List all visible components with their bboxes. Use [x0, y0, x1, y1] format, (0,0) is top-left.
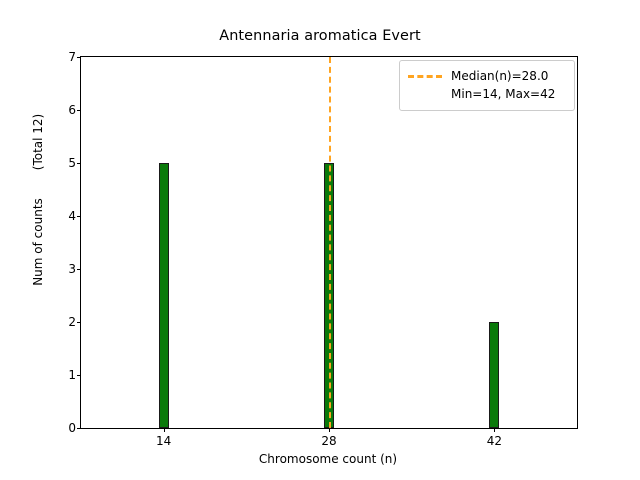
y-tick-mark [77, 163, 81, 164]
x-axis-label: Chromosome count (n) [80, 452, 576, 466]
y-tick-mark [77, 216, 81, 217]
x-tick-label: 28 [321, 434, 336, 448]
plot-area: 01234567 142842 [80, 56, 578, 429]
x-tick-mark [494, 428, 495, 432]
y-tick-label: 5 [68, 156, 76, 170]
median-line [329, 57, 331, 428]
y-tick-label: 1 [68, 368, 76, 382]
y-tick-label: 4 [68, 209, 76, 223]
x-tick-label: 42 [487, 434, 502, 448]
y-tick-mark [77, 322, 81, 323]
y-tick-label: 7 [68, 50, 76, 64]
chart-legend: Median(n)=28.0 Min=14, Max=42 [399, 60, 575, 111]
legend-entry-minmax: Min=14, Max=42 [408, 85, 566, 103]
y-axis-label: Num of counts [31, 198, 45, 286]
chart-figure: Antennaria aromatica Evert Num of counts… [0, 0, 640, 480]
chart-title: Antennaria aromatica Evert [0, 28, 640, 44]
y-tick-label: 2 [68, 315, 76, 329]
y-tick-mark [77, 428, 81, 429]
y-tick-mark [77, 375, 81, 376]
bar [489, 322, 499, 428]
y-tick-mark [77, 110, 81, 111]
legend-entry-median: Median(n)=28.0 [408, 67, 566, 85]
x-tick-label: 14 [156, 434, 171, 448]
legend-label-median: Median(n)=28.0 [451, 69, 548, 83]
dashed-line-icon [408, 75, 442, 78]
y-tick-mark [77, 269, 81, 270]
legend-label-minmax: Min=14, Max=42 [451, 87, 555, 101]
y-axis-total-label: (Total 12) [31, 113, 45, 169]
bar [159, 163, 169, 428]
plot-inner [81, 57, 577, 428]
x-tick-mark [164, 428, 165, 432]
y-tick-label: 0 [68, 421, 76, 435]
y-tick-mark [77, 57, 81, 58]
x-tick-mark [329, 428, 330, 432]
y-tick-label: 6 [68, 103, 76, 117]
y-tick-label: 3 [68, 262, 76, 276]
y-axis-label-group: Num of counts (Total 12) [0, 56, 40, 427]
